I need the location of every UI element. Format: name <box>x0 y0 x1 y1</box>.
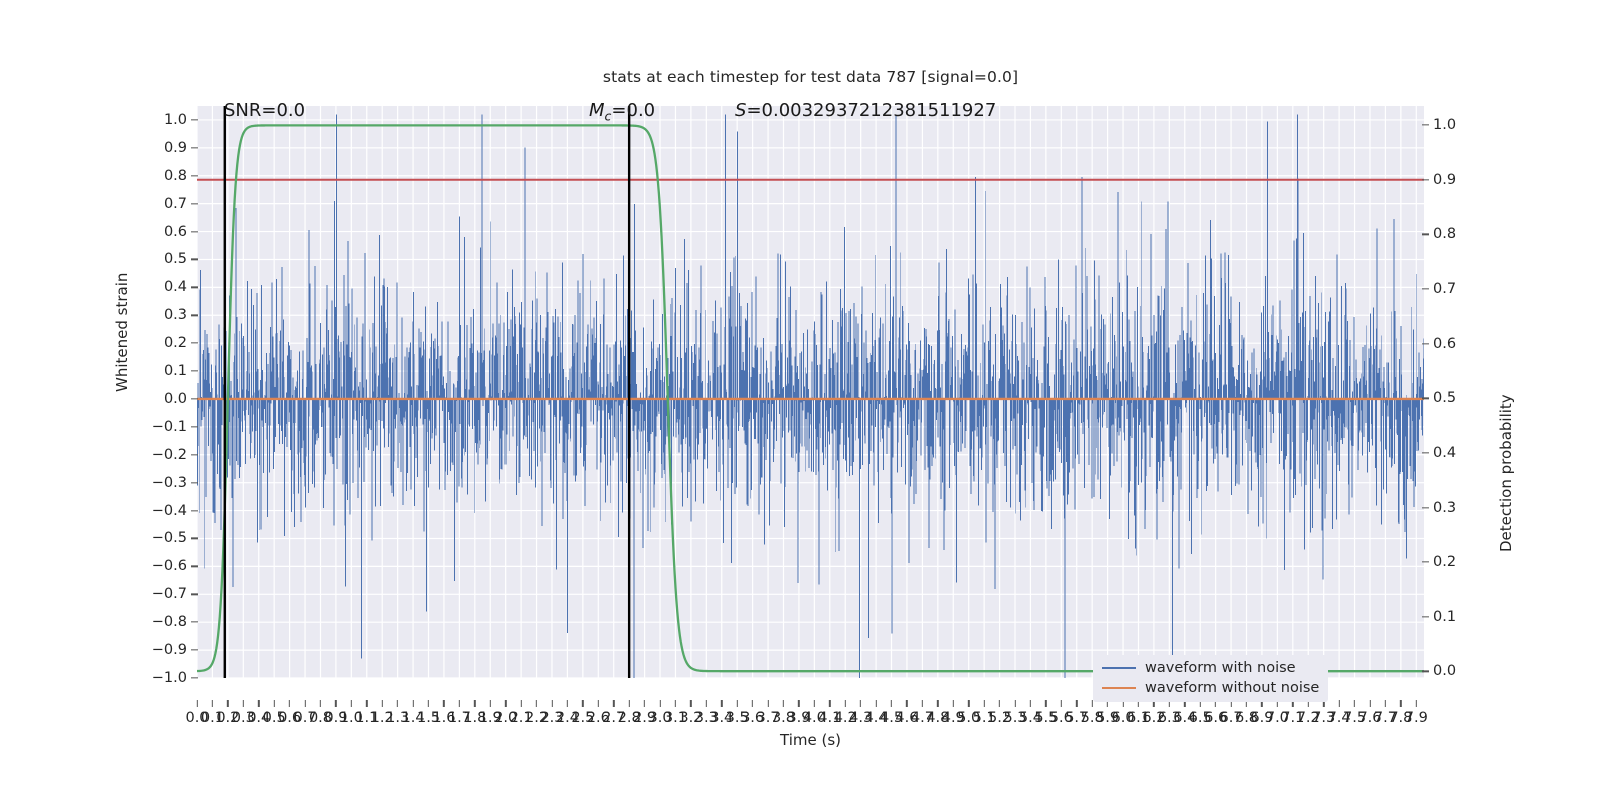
tick-mark <box>191 677 198 678</box>
tick-mark <box>258 700 259 707</box>
legend-label: waveform with noise <box>1145 660 1296 676</box>
y-tick-left-19: −0.9 <box>152 642 187 658</box>
tick-mark <box>191 566 198 567</box>
tick-mark <box>366 700 367 707</box>
plot-area <box>197 106 1424 678</box>
tick-mark <box>191 287 198 288</box>
tick-mark <box>706 700 707 707</box>
tick-mark <box>1422 398 1429 399</box>
y-tick-left-12: −0.2 <box>152 447 187 463</box>
y-tick-left-18: −0.8 <box>152 614 187 630</box>
tick-mark <box>1369 700 1370 707</box>
tick-mark <box>1092 700 1093 707</box>
y-tick-right-0: 1.0 <box>1433 117 1456 133</box>
y-tick-left-13: −0.3 <box>152 475 187 491</box>
y-tick-left-8: 0.2 <box>164 335 187 351</box>
y-tick-right-6: 0.4 <box>1433 445 1456 461</box>
y-axis-right-label: Detection probability <box>1497 394 1515 552</box>
tick-mark <box>443 700 444 707</box>
annotation-s-symbol: S <box>735 100 746 121</box>
tick-mark <box>891 700 892 707</box>
tick-mark <box>937 700 938 707</box>
tick-mark <box>520 700 521 707</box>
tick-mark <box>191 370 198 371</box>
y-tick-left-16: −0.6 <box>152 558 187 574</box>
legend-swatch-icon <box>1102 687 1136 689</box>
tick-mark <box>906 700 907 707</box>
tick-mark <box>551 700 552 707</box>
tick-mark <box>983 700 984 707</box>
tick-mark <box>1354 700 1355 707</box>
y-tick-left-11: −0.1 <box>152 419 187 435</box>
tick-mark <box>351 700 352 707</box>
tick-mark <box>191 622 198 623</box>
y-tick-left-10: 0.0 <box>164 391 187 407</box>
tick-mark <box>690 700 691 707</box>
tick-mark <box>1422 452 1429 453</box>
tick-mark <box>783 700 784 707</box>
tick-mark <box>1422 234 1429 235</box>
overlay-layer <box>197 106 1424 678</box>
tick-mark <box>191 649 198 650</box>
y-tick-right-10: 0.0 <box>1433 663 1456 679</box>
y-tick-left-5: 0.5 <box>164 251 187 267</box>
chart-title: stats at each timestep for test data 787… <box>197 68 1424 86</box>
tick-mark <box>397 700 398 707</box>
tick-mark <box>304 700 305 707</box>
tick-mark <box>320 700 321 707</box>
tick-mark <box>191 175 198 176</box>
tick-mark <box>191 454 198 455</box>
y-tick-right-2: 0.8 <box>1433 226 1456 242</box>
tick-mark <box>191 119 198 120</box>
tick-mark <box>191 538 198 539</box>
legend-swatch-icon <box>1102 667 1136 669</box>
annotation-mc-value: =0.0 <box>611 100 655 121</box>
tick-mark <box>1422 671 1429 672</box>
tick-mark <box>274 700 275 707</box>
tick-mark <box>829 700 830 707</box>
y-tick-right-5: 0.5 <box>1433 390 1456 406</box>
tick-mark <box>814 700 815 707</box>
annotation-chirp-mass: Mc=0.0 <box>589 100 655 124</box>
tick-mark <box>1422 288 1429 289</box>
y-tick-right-1: 0.9 <box>1433 172 1456 188</box>
y-tick-right-3: 0.7 <box>1433 281 1456 297</box>
tick-mark <box>737 700 738 707</box>
y-axis-left-label: Whitened strain <box>113 273 131 392</box>
tick-mark <box>1416 700 1417 707</box>
y-tick-left-20: −1.0 <box>152 670 187 686</box>
tick-mark <box>196 700 197 707</box>
tick-mark <box>1400 700 1401 707</box>
tick-mark <box>798 700 799 707</box>
tick-mark <box>999 700 1000 707</box>
x-tick-79: 7.9 <box>1405 710 1428 726</box>
tick-mark <box>1030 700 1031 707</box>
tick-mark <box>767 700 768 707</box>
tick-mark <box>922 700 923 707</box>
y-tick-left-6: 0.4 <box>164 279 187 295</box>
tick-mark <box>598 700 599 707</box>
tick-mark <box>1422 616 1429 617</box>
tick-mark <box>860 700 861 707</box>
tick-mark <box>644 700 645 707</box>
tick-mark <box>1014 700 1015 707</box>
tick-mark <box>191 398 198 399</box>
tick-mark <box>567 700 568 707</box>
tick-mark <box>536 700 537 707</box>
tick-mark <box>191 482 198 483</box>
tick-mark <box>721 700 722 707</box>
tick-mark <box>613 700 614 707</box>
tick-mark <box>675 700 676 707</box>
annotation-score: S=0.0032937212381511927 <box>735 100 996 121</box>
tick-mark <box>968 700 969 707</box>
tick-mark <box>191 203 198 204</box>
tick-mark <box>1061 700 1062 707</box>
tick-mark <box>191 510 198 511</box>
tick-mark <box>212 700 213 707</box>
tick-mark <box>845 700 846 707</box>
tick-mark <box>459 700 460 707</box>
tick-mark <box>752 700 753 707</box>
tick-mark <box>1076 700 1077 707</box>
tick-mark <box>243 700 244 707</box>
tick-mark <box>1338 700 1339 707</box>
tick-mark <box>191 147 198 148</box>
tick-mark <box>227 700 228 707</box>
tick-mark <box>505 700 506 707</box>
tick-mark <box>1045 700 1046 707</box>
y-tick-right-8: 0.2 <box>1433 554 1456 570</box>
tick-mark <box>1422 124 1429 125</box>
tick-mark <box>1422 507 1429 508</box>
tick-mark <box>191 259 198 260</box>
x-axis-label: Time (s) <box>197 731 1424 749</box>
tick-mark <box>191 594 198 595</box>
annotation-mc-symbol: M <box>589 100 605 121</box>
tick-mark <box>1385 700 1386 707</box>
y-tick-left-3: 0.7 <box>164 196 187 212</box>
tick-mark <box>490 700 491 707</box>
tick-mark <box>191 315 198 316</box>
tick-mark <box>875 700 876 707</box>
tick-mark <box>382 700 383 707</box>
tick-mark <box>659 700 660 707</box>
tick-mark <box>474 700 475 707</box>
y-tick-left-4: 0.6 <box>164 224 187 240</box>
y-tick-left-7: 0.3 <box>164 307 187 323</box>
tick-mark <box>1422 562 1429 563</box>
y-tick-left-9: 0.1 <box>164 363 187 379</box>
chart-figure: stats at each timestep for test data 787… <box>0 0 1600 800</box>
y-tick-left-0: 1.0 <box>164 112 187 128</box>
tick-mark <box>191 231 198 232</box>
tick-mark <box>1422 179 1429 180</box>
tick-mark <box>191 426 198 427</box>
tick-mark <box>582 700 583 707</box>
y-tick-left-17: −0.7 <box>152 586 187 602</box>
y-tick-left-15: −0.5 <box>152 530 187 546</box>
tick-mark <box>428 700 429 707</box>
tick-mark <box>412 700 413 707</box>
y-tick-right-7: 0.3 <box>1433 500 1456 516</box>
tick-mark <box>335 700 336 707</box>
annotation-snr: SNR=0.0 <box>224 100 305 121</box>
annotation-s-value: =0.0032937212381511927 <box>746 100 996 121</box>
y-tick-left-1: 0.9 <box>164 140 187 156</box>
legend-item-0[interactable]: waveform with noise <box>1102 660 1319 676</box>
y-tick-right-9: 0.1 <box>1433 609 1456 625</box>
legend-label: waveform without noise <box>1145 680 1319 696</box>
tick-mark <box>289 700 290 707</box>
y-tick-left-14: −0.4 <box>152 503 187 519</box>
chart-legend[interactable]: waveform with noisewaveform without nois… <box>1093 655 1328 702</box>
y-tick-left-2: 0.8 <box>164 168 187 184</box>
tick-mark <box>953 700 954 707</box>
tick-mark <box>628 700 629 707</box>
y-tick-right-4: 0.6 <box>1433 336 1456 352</box>
tick-mark <box>1422 343 1429 344</box>
tick-mark <box>191 343 198 344</box>
legend-item-1[interactable]: waveform without noise <box>1102 680 1319 696</box>
